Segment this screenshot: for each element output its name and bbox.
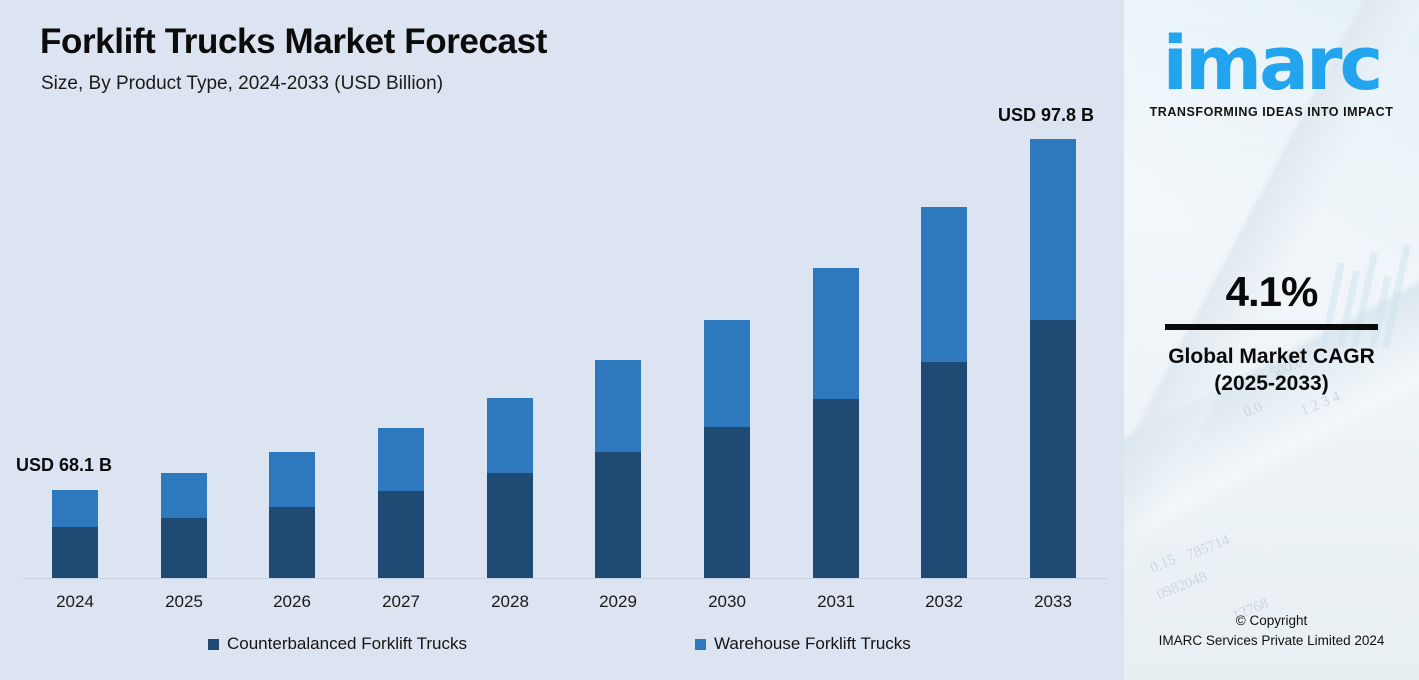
bar-2028[interactable] bbox=[487, 398, 533, 578]
legend-swatch-warehouse bbox=[695, 639, 706, 650]
bar-segment-counterbalanced-2025 bbox=[161, 518, 207, 578]
copyright-line-1: © Copyright bbox=[1124, 611, 1419, 631]
bar-segment-counterbalanced-2031 bbox=[813, 399, 859, 578]
cagr-label: Global Market CAGR bbox=[1124, 342, 1419, 372]
copyright-notice: © Copyright IMARC Services Private Limit… bbox=[1124, 611, 1419, 652]
imarc-logo-wordmark: imarc bbox=[1124, 30, 1419, 98]
bar-segment-counterbalanced-2033 bbox=[1030, 320, 1076, 578]
x-axis-label-2031: 2031 bbox=[781, 592, 891, 612]
data-label-2024: USD 68.1 B bbox=[16, 455, 112, 476]
imarc-logo-tagline: TRANSFORMING IDEAS INTO IMPACT bbox=[1124, 105, 1419, 119]
bar-segment-warehouse-2033 bbox=[1030, 139, 1076, 320]
legend-item-counterbalanced[interactable]: Counterbalanced Forklift Trucks bbox=[208, 634, 467, 654]
bar-segment-counterbalanced-2032 bbox=[921, 362, 967, 578]
cagr-period: (2025-2033) bbox=[1124, 372, 1419, 396]
chart-legend: Counterbalanced Forklift Trucks Warehous… bbox=[0, 634, 1110, 662]
bar-segment-counterbalanced-2024 bbox=[52, 527, 98, 578]
cagr-divider bbox=[1165, 324, 1378, 330]
page-subtitle: Size, By Product Type, 2024-2033 (USD Bi… bbox=[41, 73, 443, 95]
x-axis-label-2029: 2029 bbox=[563, 592, 673, 612]
x-axis-label-2030: 2030 bbox=[672, 592, 782, 612]
bar-segment-counterbalanced-2027 bbox=[378, 491, 424, 578]
data-label-2033: USD 97.8 B bbox=[998, 105, 1094, 126]
legend-swatch-counterbalanced bbox=[208, 639, 219, 650]
bar-2025[interactable] bbox=[161, 473, 207, 578]
x-axis-label-2032: 2032 bbox=[889, 592, 999, 612]
x-axis-label-2024: 2024 bbox=[20, 592, 130, 612]
bar-segment-warehouse-2029 bbox=[595, 360, 641, 452]
bar-2027[interactable] bbox=[378, 428, 424, 578]
chart-infographic: Forklift Trucks Market Forecast Size, By… bbox=[0, 0, 1419, 680]
cagr-value: 4.1% bbox=[1124, 268, 1419, 316]
bar-segment-warehouse-2032 bbox=[921, 207, 967, 362]
bar-segment-warehouse-2026 bbox=[269, 452, 315, 507]
bar-segment-counterbalanced-2030 bbox=[704, 427, 750, 578]
bar-2029[interactable] bbox=[595, 360, 641, 578]
copyright-line-2: IMARC Services Private Limited 2024 bbox=[1124, 631, 1419, 651]
legend-label-counterbalanced: Counterbalanced Forklift Trucks bbox=[227, 634, 467, 654]
bar-2030[interactable] bbox=[704, 320, 750, 578]
bar-segment-warehouse-2027 bbox=[378, 428, 424, 491]
bar-2033[interactable] bbox=[1030, 139, 1076, 578]
bar-segment-warehouse-2025 bbox=[161, 473, 207, 518]
brand-panel: 500.0 0.0 1 2 3 4 0.15 785714 0982048 12… bbox=[1124, 0, 1419, 680]
chart-panel: Forklift Trucks Market Forecast Size, By… bbox=[0, 0, 1124, 680]
bar-segment-warehouse-2024 bbox=[52, 490, 98, 527]
bar-segment-warehouse-2028 bbox=[487, 398, 533, 473]
x-axis-line bbox=[22, 578, 1108, 579]
bar-2026[interactable] bbox=[269, 452, 315, 578]
x-axis-label-2027: 2027 bbox=[346, 592, 456, 612]
bar-segment-counterbalanced-2028 bbox=[487, 473, 533, 578]
bar-segment-warehouse-2031 bbox=[813, 268, 859, 399]
bar-2032[interactable] bbox=[921, 207, 967, 578]
cagr-block: 4.1% Global Market CAGR (2025-2033) bbox=[1124, 268, 1419, 396]
bar-segment-counterbalanced-2029 bbox=[595, 452, 641, 578]
x-axis-label-2028: 2028 bbox=[455, 592, 565, 612]
legend-label-warehouse: Warehouse Forklift Trucks bbox=[714, 634, 911, 654]
x-axis-label-2026: 2026 bbox=[237, 592, 347, 612]
bar-2024[interactable] bbox=[52, 490, 98, 578]
bar-2031[interactable] bbox=[813, 268, 859, 578]
page-title: Forklift Trucks Market Forecast bbox=[40, 22, 547, 62]
bar-segment-counterbalanced-2026 bbox=[269, 507, 315, 578]
legend-item-warehouse[interactable]: Warehouse Forklift Trucks bbox=[695, 634, 911, 654]
x-axis-label-2033: 2033 bbox=[998, 592, 1108, 612]
x-axis-label-2025: 2025 bbox=[129, 592, 239, 612]
bar-segment-warehouse-2030 bbox=[704, 320, 750, 427]
imarc-logo: imarc TRANSFORMING IDEAS INTO IMPACT bbox=[1124, 30, 1419, 119]
